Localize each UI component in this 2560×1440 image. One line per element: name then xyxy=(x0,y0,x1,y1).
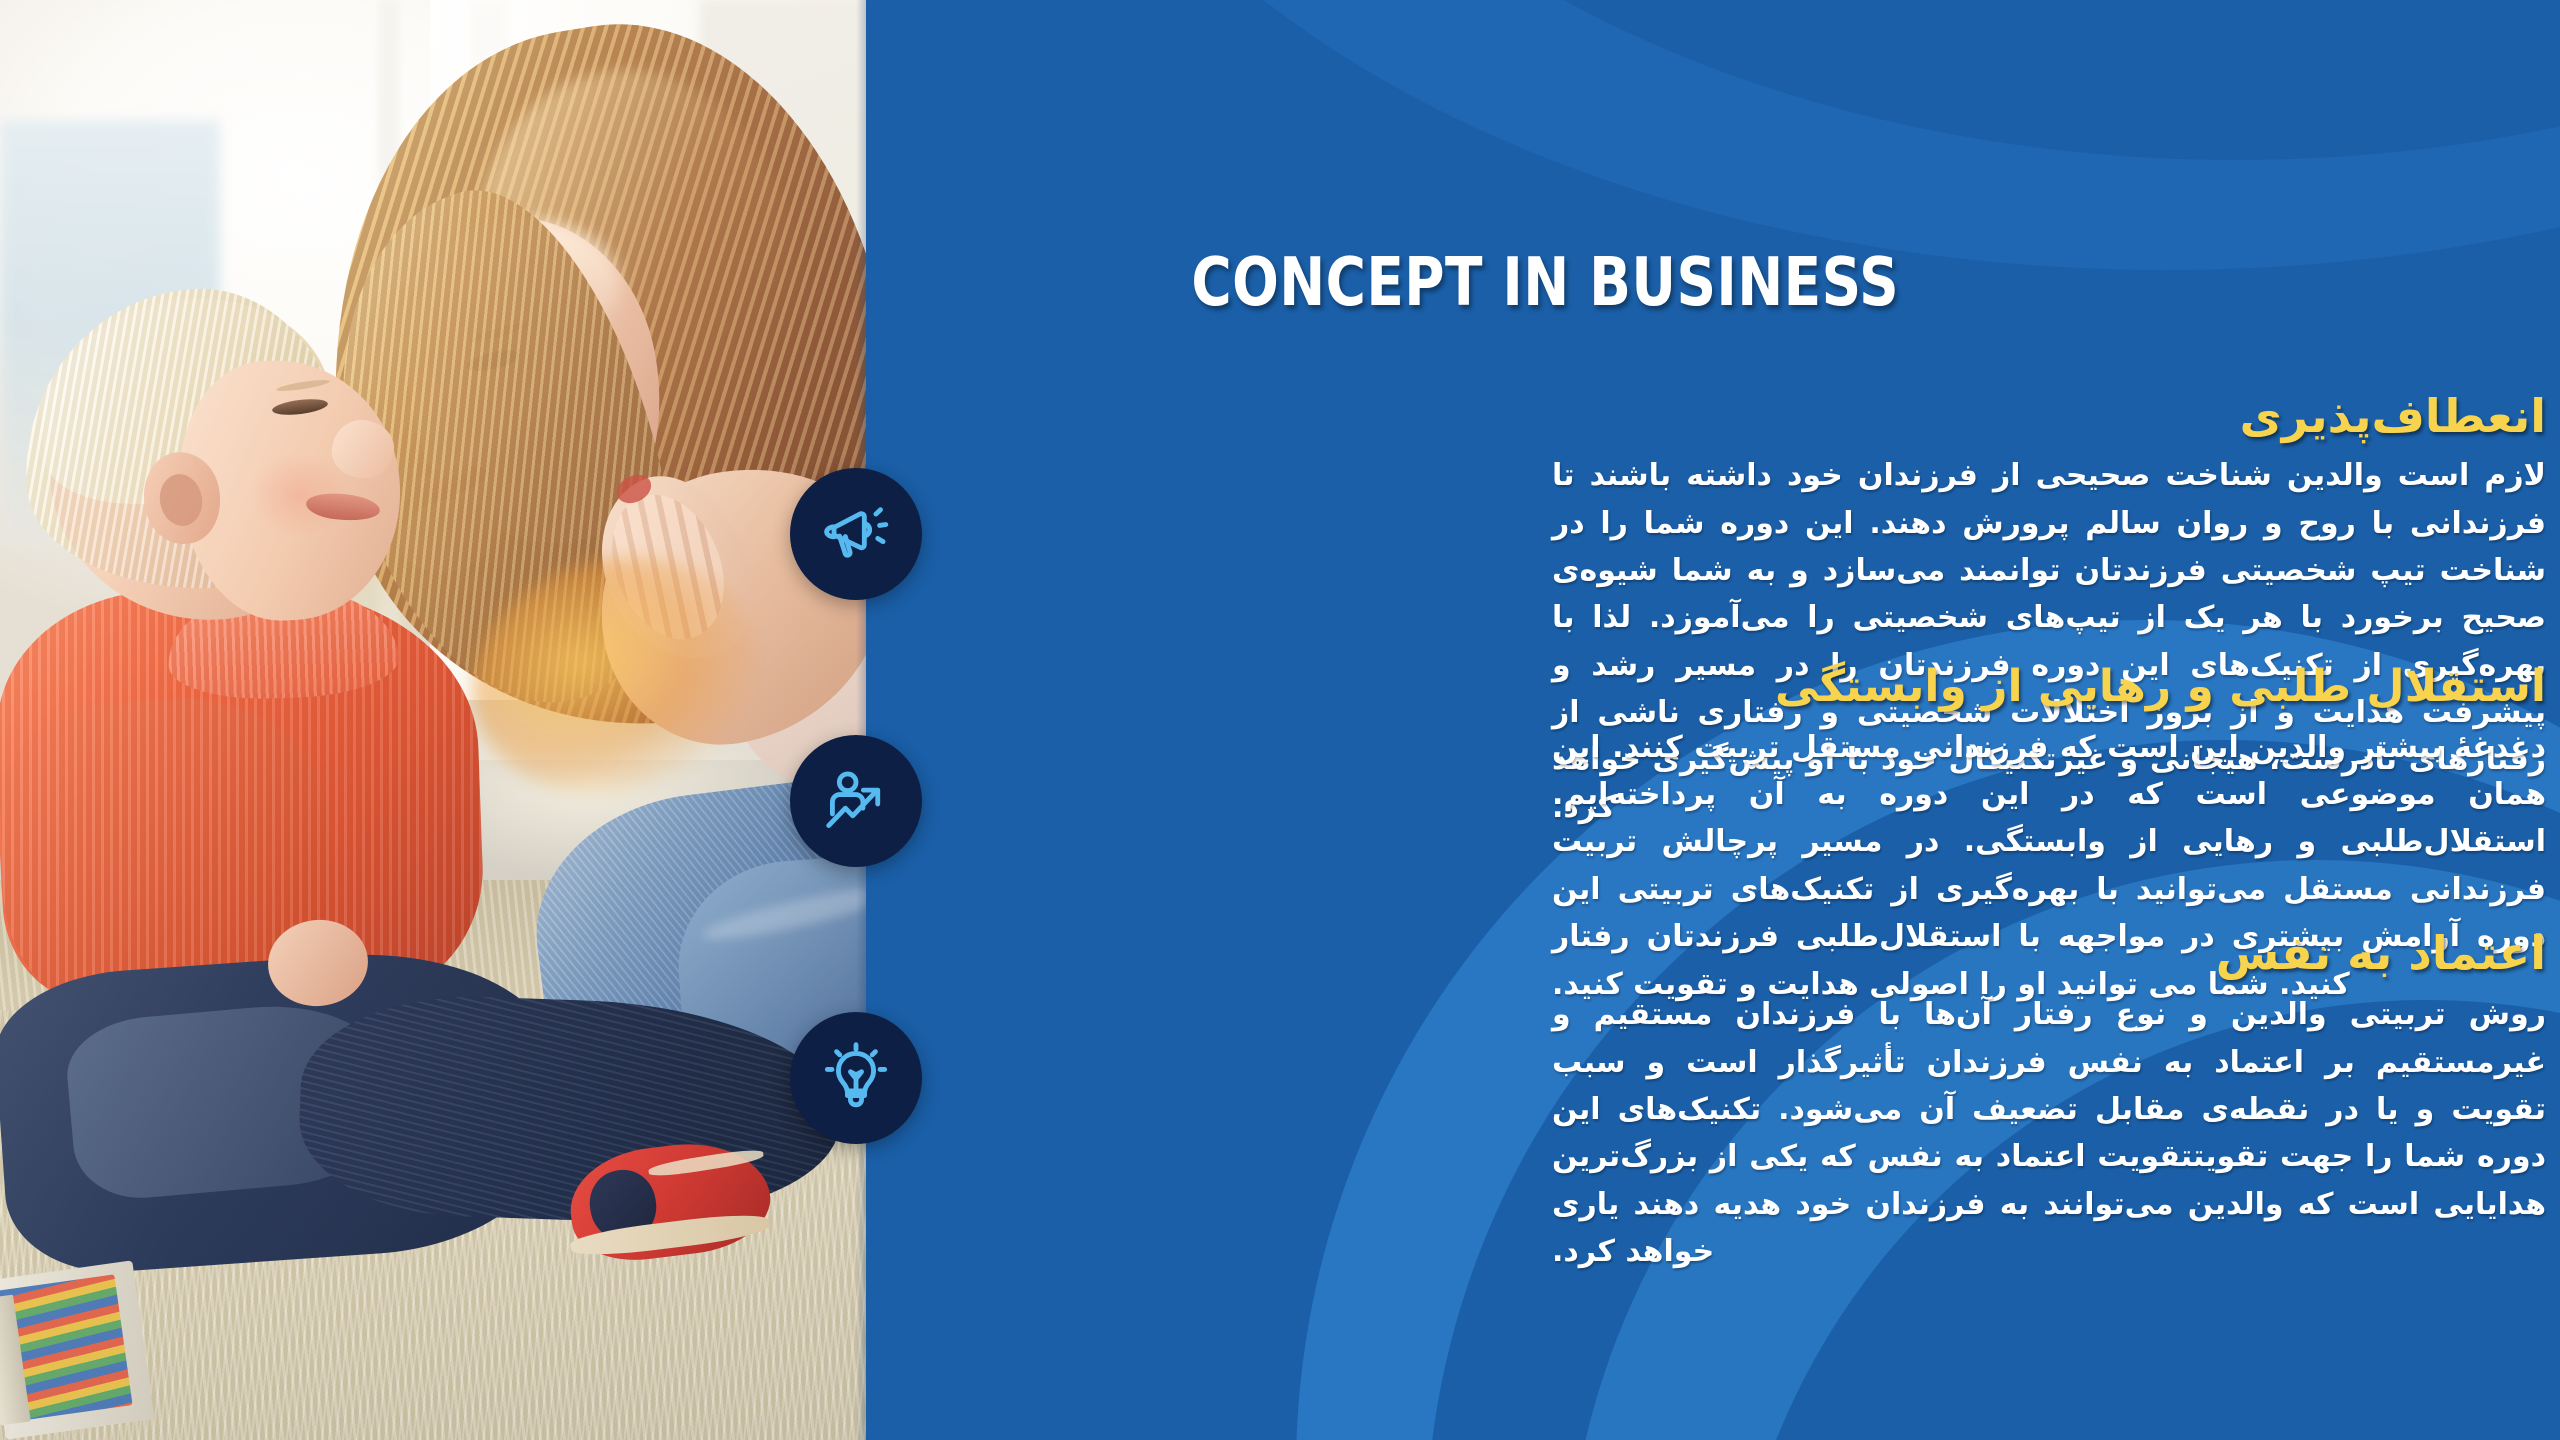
section-2-heading: استقلال طلبی و رهایی از وابستگی xyxy=(1550,660,2560,714)
section-1-icon-badge xyxy=(790,468,922,600)
section-3-icon-badge xyxy=(790,1012,922,1144)
photo-color-grade xyxy=(0,0,866,1440)
panel-content: CONCEPT IN BUSINESS انعطاف‌پذیری لازم اس… xyxy=(866,0,2560,1440)
lightbulb-icon xyxy=(819,1041,893,1115)
section-3-body: روش تربیتی والدین و نوع رفتار آن‌ها با ف… xyxy=(1550,991,2560,1275)
section-1-heading: انعطاف‌پذیری xyxy=(1550,388,2560,444)
content-panel: CONCEPT IN BUSINESS انعطاف‌پذیری لازم اس… xyxy=(866,0,2560,1440)
section-3-heading: اعتماد به نفس xyxy=(1550,925,2560,981)
section-2-icon-badge xyxy=(790,735,922,867)
person-growth-icon xyxy=(819,764,893,838)
section-self-confidence: اعتماد به نفس روش تربیتی والدین و نوع رف… xyxy=(1550,925,2560,1275)
page-title: CONCEPT IN BUSINESS xyxy=(1191,243,1899,321)
slide-canvas: CONCEPT IN BUSINESS انعطاف‌پذیری لازم اس… xyxy=(0,0,2560,1440)
megaphone-icon xyxy=(819,497,893,571)
hero-photo xyxy=(0,0,866,1440)
photo-edge-shadow xyxy=(856,0,866,1440)
